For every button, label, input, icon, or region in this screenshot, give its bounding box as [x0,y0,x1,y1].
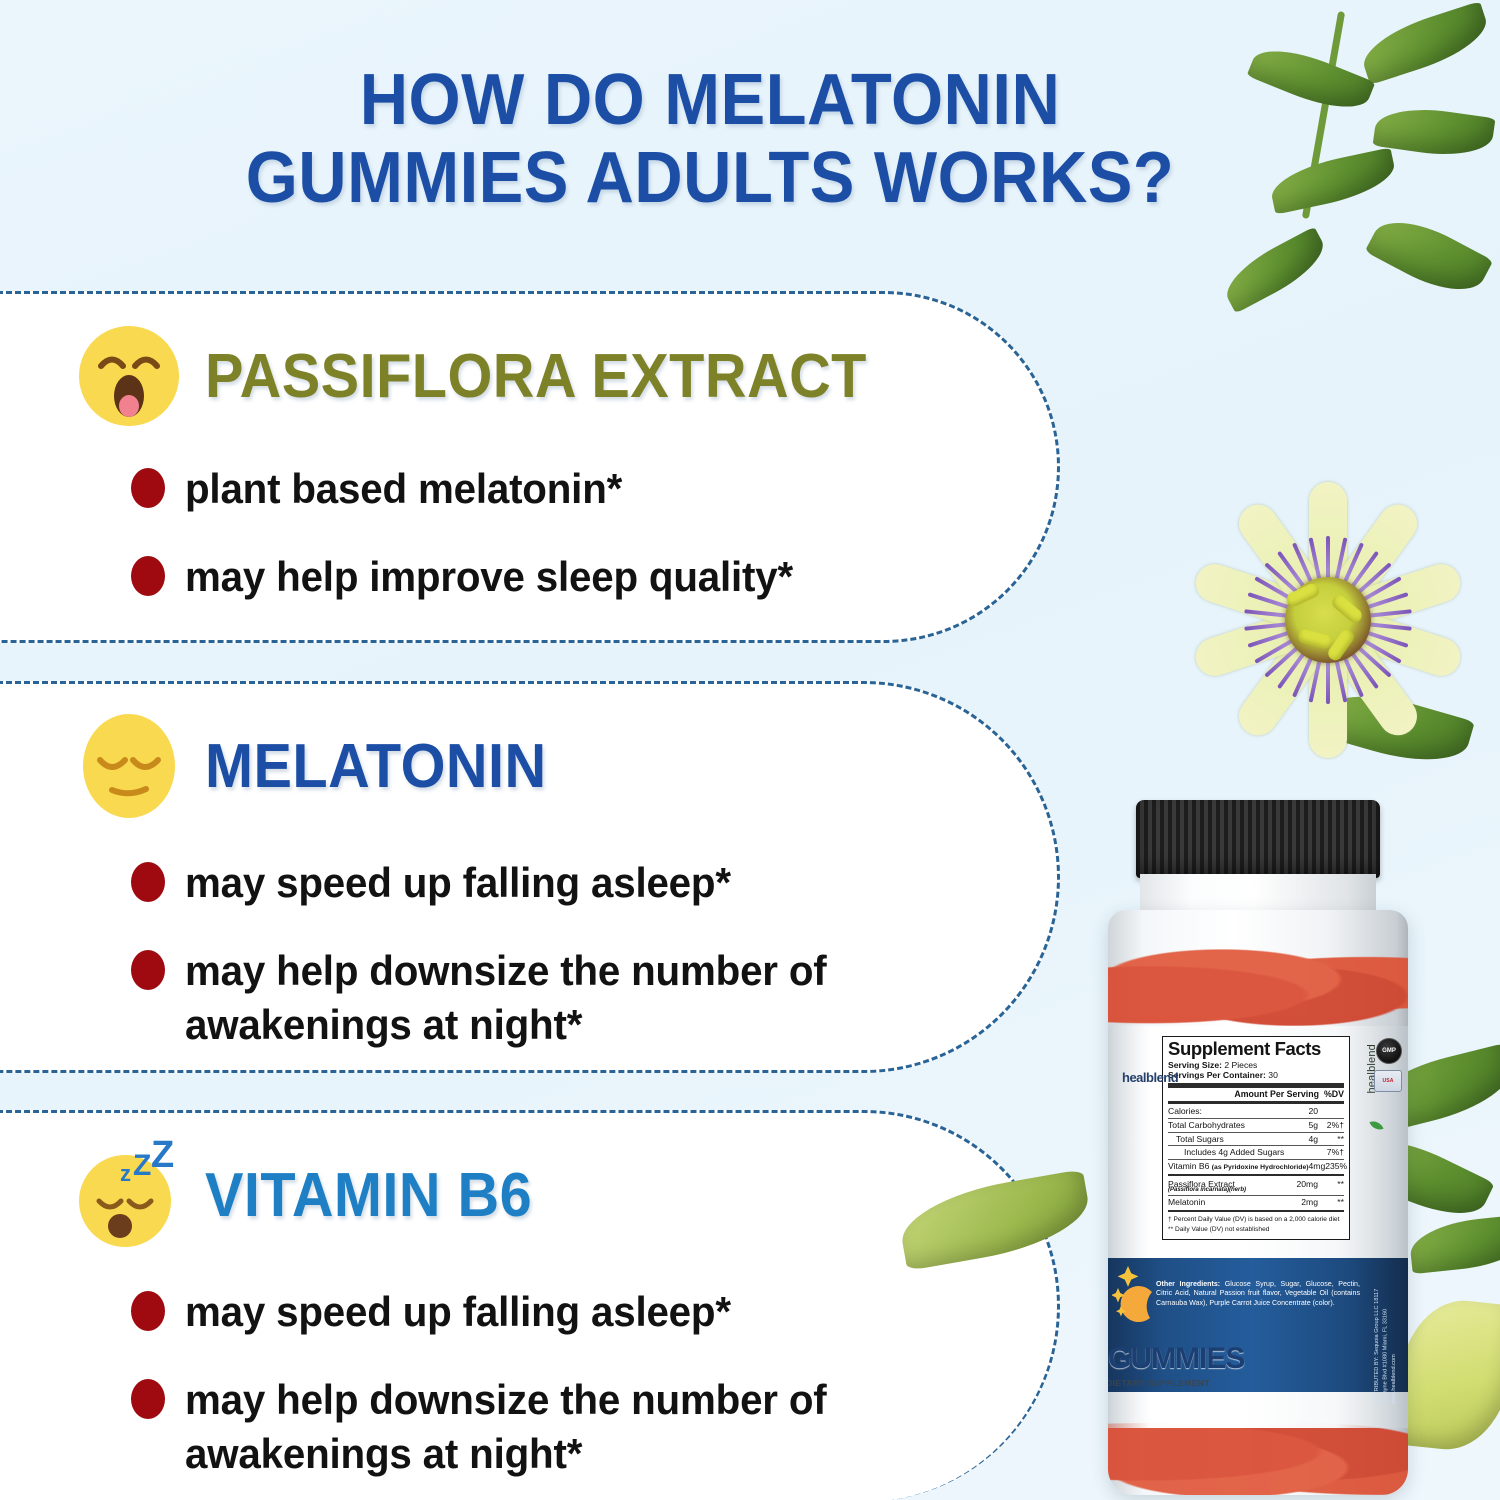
serving-size-value: 2 Pieces [1224,1060,1257,1070]
divider [1168,1101,1344,1103]
table-row: Total Sugars 4g ** [1168,1132,1344,1145]
bottle-cap [1136,800,1380,878]
card-bullet-list: may speed up falling asleep* may help do… [131,856,961,1085]
nutrient-dv: 2%† [1318,1120,1344,1130]
table-row: Melatonin 2mg ** [1168,1196,1344,1209]
list-item: may help downsize the number of awakenin… [131,944,961,1052]
list-item: plant based melatonin* [131,462,961,516]
product-front-name: GUMMIES [1108,1342,1244,1376]
nutrient-name: Includes 4g Added Sugars [1168,1147,1288,1157]
bullet-text: may help improve sleep quality* [185,550,793,604]
bottle-body: healblend GUMMIES DIETARY SUPPLEMENT hea… [1108,910,1408,1495]
passionflower-bloom [1178,470,1478,770]
nutrient-amount: 5g [1288,1120,1318,1130]
card-bullet-list: may speed up falling asleep* may help do… [131,1285,961,1500]
plant-leaf [1356,1,1494,85]
nutrient-amount: 2mg [1288,1197,1318,1207]
nutrient-name: Melatonin [1168,1197,1288,1207]
card-title: PASSIFLORA EXTRACT [205,341,867,412]
gmp-badge: GMP [1376,1038,1402,1064]
leaf-icon [1369,1118,1383,1132]
footnote-daily-value-basis: † Percent Daily Value (DV) is based on a… [1168,1214,1344,1225]
table-row: Includes 4g Added Sugars 7%† [1168,1146,1344,1159]
divider [1168,1210,1344,1212]
list-item: may help improve sleep quality* [131,550,961,604]
servings-per-container-line: Servings Per Container: 30 [1168,1070,1344,1080]
sleeping-face-zzz-emoji: z Z Z [73,1139,185,1251]
supplement-bottle: healblend GUMMIES DIETARY SUPPLEMENT hea… [1078,800,1438,1500]
ingredient-card-passiflora-extract: PASSIFLORA EXTRACT plant based melatonin… [0,291,1060,643]
supplement-facts-panel: Supplement Facts Serving Size: 2 Pieces … [1162,1036,1350,1240]
brand-wrap-text: healblend [1122,1070,1178,1085]
bullet-text: may help downsize the number of awakenin… [185,1373,930,1481]
plant-leaf [1267,147,1399,214]
servings-per-container-label: Servings Per Container: [1168,1070,1266,1080]
svg-text:z: z [120,1161,131,1186]
other-ingredients-label: Other Ingredients: [1156,1280,1220,1288]
made-in-usa-badge: USA [1374,1070,1402,1092]
other-ingredients: Other Ingredients: Glucose Syrup, Sugar,… [1156,1280,1360,1308]
nutrient-name: Total Sugars [1168,1134,1288,1144]
divider [1168,1083,1344,1088]
card-title: MELATONIN [205,731,547,802]
bullet-dot-icon [131,1379,165,1419]
card-header: MELATONIN [73,710,572,822]
product-photo: healblend GUMMIES DIETARY SUPPLEMENT hea… [1020,0,1500,1500]
card-bullet-list: plant based melatonin* may help improve … [131,462,961,638]
nutrient-dv: 235% [1325,1161,1347,1171]
nutrient-name: Total Carbohydrates [1168,1120,1288,1130]
divider [1168,1174,1344,1176]
nutrient-name: Vitamin B6 (as Pyridoxine Hydrochloride) [1168,1161,1309,1171]
relieved-sleeping-face-emoji [73,710,185,822]
list-item: may speed up falling asleep* [131,856,961,910]
plant-leaf [1217,227,1333,314]
bullet-text: may speed up falling asleep* [185,856,731,910]
nutrient-name-main: Vitamin B6 [1168,1161,1209,1171]
card-header: PASSIFLORA EXTRACT [73,320,917,432]
list-item: may speed up falling asleep* [131,1285,961,1339]
gummies-visible-top [1108,948,1408,1026]
moon-stars-logo [1112,1262,1164,1336]
nutrient-dv: ** [1318,1134,1344,1144]
product-front-subtitle: DIETARY SUPPLEMENT [1108,1378,1210,1388]
table-row: Vitamin B6 (as Pyridoxine Hydrochloride)… [1168,1160,1344,1173]
nutrient-dv: 7%† [1318,1147,1344,1157]
bullet-dot-icon [131,556,165,596]
serving-size-line: Serving Size: 2 Pieces [1168,1060,1344,1070]
gummies-visible-bottom [1108,1423,1408,1495]
supplement-facts-column-headers: Amount Per Serving %DV [1168,1089,1344,1100]
bullet-dot-icon [131,950,165,990]
nutrient-amount: 20 [1288,1106,1318,1116]
card-title: VITAMIN B6 [205,1160,532,1231]
bullet-text: may speed up falling asleep* [185,1285,731,1339]
column-header-amount: Amount Per Serving [1234,1089,1319,1099]
plant-leaf [1247,37,1376,122]
yawning-face-emoji [73,320,185,432]
bullet-dot-icon [131,862,165,902]
servings-per-container-value: 30 [1268,1070,1278,1080]
bullet-dot-icon [131,1291,165,1331]
infographic-canvas: HOW DO MELATONIN GUMMIES ADULTS WORKS? P… [0,0,1500,1500]
nutrient-dv: ** [1318,1197,1344,1207]
table-row: Total Carbohydrates 5g 2%† [1168,1119,1344,1132]
svg-text:Z: Z [133,1149,151,1182]
supplement-facts-title: Supplement Facts [1168,1040,1344,1059]
column-header-dv: %DV [1324,1089,1344,1099]
bottle-label: healblend GUMMIES DIETARY SUPPLEMENT hea… [1108,1026,1408,1428]
bullet-text: may help downsize the number of awakenin… [185,944,930,1052]
distributor-info: DISTRIBUTED BY: Sequoia Group LLC 18117 … [1373,1274,1398,1404]
nutrient-amount: 4mg [1309,1161,1326,1171]
nutrient-dv: ** [1318,1179,1344,1189]
ingredient-card-melatonin: MELATONIN may speed up falling asleep* m… [0,681,1060,1073]
nutrient-name: Calories: [1168,1106,1288,1116]
footnote-dv-not-established: ** Daily Value (DV) not established [1168,1224,1344,1235]
list-item: may help downsize the number of awakenin… [131,1373,961,1481]
serving-size-label: Serving Size: [1168,1060,1222,1070]
nutrient-amount: 4g [1288,1134,1318,1144]
card-header: z Z Z VITAMIN B6 [73,1139,557,1251]
table-row: Calories: 20 [1168,1105,1344,1118]
plant-leaf [1365,205,1494,306]
ingredient-card-vitamin-b6: z Z Z VITAMIN B6 may speed up falling as… [0,1110,1060,1500]
bullet-text: plant based melatonin* [185,462,622,516]
nutrient-name-sub: (as Pyridoxine Hydrochloride) [1212,1164,1309,1171]
nutrient-amount: 20mg [1288,1179,1318,1189]
svg-text:Z: Z [151,1139,174,1176]
bullet-dot-icon [131,468,165,508]
